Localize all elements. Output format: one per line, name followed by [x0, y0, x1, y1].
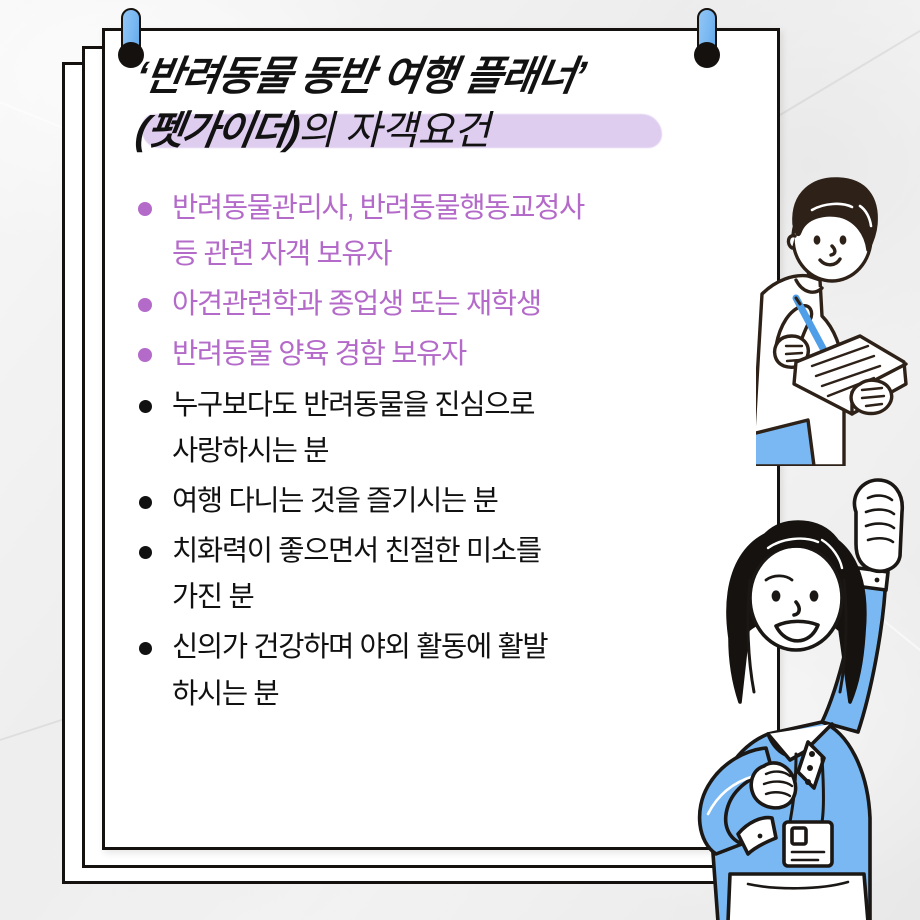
title-line-2-strong: (펫가이더) [133, 111, 301, 151]
list-item: 여행 다니는 것을 즐기시는 분 [128, 478, 762, 524]
title-line-2-light: 의 자객요건 [298, 111, 490, 151]
list-item: 누구보다도 반려동물을 진심으로 사랑하시는 분 [128, 382, 762, 474]
list-item: 아견관련학과 종업생 또는 재학생 [128, 281, 762, 327]
title-line-2: (펫가이더)의 자객요건 [136, 111, 762, 151]
requirements-list: 반려동물관리사, 반려동물행동교정사 등 관련 자객 보유자 아견관련학과 종업… [120, 185, 762, 717]
poster-canvas: ‘반려동물 동반 여행 플래너’ (펫가이더)의 자객요건 반려동물관리사, 반… [0, 0, 920, 920]
list-item: 반려동물 양육 경함 보유자 [128, 331, 762, 377]
list-item: 치화력이 좋으면서 친절한 미소를 가진 분 [128, 528, 762, 620]
page-title: ‘반려동물 동반 여행 플래너’ (펫가이더)의 자객요건 [120, 56, 762, 151]
pushpin-tip [118, 42, 144, 68]
list-item: 반려동물관리사, 반려동물행동교정사 등 관련 자객 보유자 [128, 185, 762, 277]
pushpin-tip [694, 42, 720, 68]
title-line-1: ‘반려동물 동반 여행 플래너’ [133, 56, 765, 97]
poster-content: ‘반려동물 동반 여행 플래너’ (펫가이더)의 자객요건 반려동물관리사, 반… [102, 28, 780, 850]
list-item: 신의가 건강하며 야외 활동에 활발 하시는 분 [128, 624, 762, 716]
